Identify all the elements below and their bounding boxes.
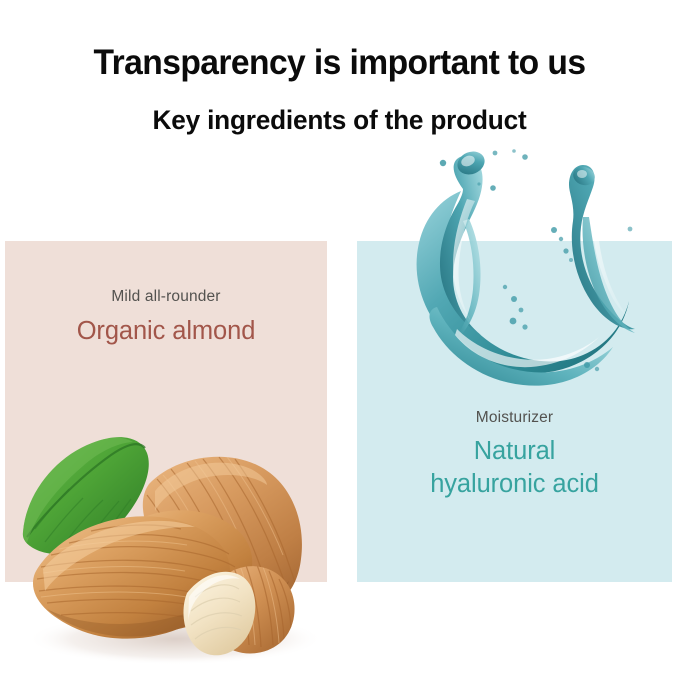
ingredient-name-label: Natural hyaluronic acid: [357, 435, 672, 501]
page-title: Transparency is important to us: [14, 42, 666, 84]
ingredient-name-line-2: hyaluronic acid: [357, 468, 672, 501]
splash-ring-shape: [417, 156, 635, 386]
ingredient-card-hyaluronic-acid: Moisturizer Natural hyaluronic acid: [357, 241, 672, 582]
almond-nuts-image: [0, 421, 347, 671]
ingredient-eyebrow-label: Moisturizer: [357, 408, 672, 428]
page-subtitle: Key ingredients of the product: [10, 103, 669, 137]
ingredient-card-organic-almond: Mild all-rounder Organic almond: [5, 241, 327, 582]
page-header: Transparency is important to us Key ingr…: [0, 0, 679, 150]
ingredient-eyebrow-label: Mild all-rounder: [5, 287, 327, 307]
ingredient-name-line-1: Natural: [357, 435, 672, 468]
water-splash-image: [383, 147, 649, 413]
ingredient-name-label: Organic almond: [5, 315, 327, 348]
